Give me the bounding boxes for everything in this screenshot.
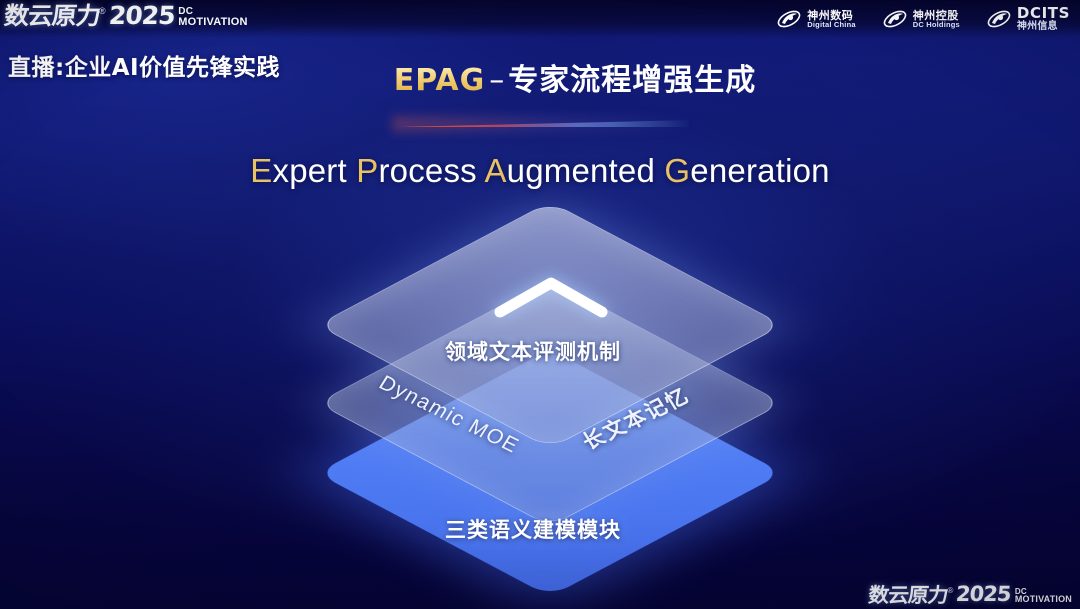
partner-name-en: 神州信息: [1017, 22, 1070, 32]
watermark-dc-line2: MOTIVATION: [1015, 595, 1072, 604]
brand-logo: 数云原力 ® 2025 DC MOTIVATION: [6, 3, 248, 28]
partner-name-cn: DCITS: [1017, 6, 1070, 21]
page-title-cn: 专家流程增强生成: [508, 63, 756, 98]
subtitle-cap-a: A: [484, 152, 506, 189]
swirl-logo-icon: [986, 6, 1012, 32]
swirl-logo-icon: [882, 6, 908, 32]
page-title-accent: EPAG: [394, 63, 486, 98]
subtitle-word-augmented: Augmented: [484, 152, 655, 189]
brand-registered-mark: ®: [99, 7, 106, 16]
watermark-cn: 数云原力: [868, 585, 949, 605]
subtitle-cap-g: G: [664, 152, 690, 189]
brand-logo-year: 2025: [108, 3, 176, 28]
subtitle-cap-p: P: [356, 152, 378, 189]
brand-dc-line2: MOTIVATION: [178, 17, 247, 27]
page-subtitle: Expert Process Augmented Generation: [0, 152, 1080, 190]
watermark-year: 2025: [955, 584, 1011, 605]
partner-logo-group: 神州数码 Digital China 神州控股 DC Holdings: [776, 6, 1070, 32]
partner-name-en: DC Holdings: [913, 21, 960, 29]
partner-label: 神州数码 Digital China: [807, 10, 855, 29]
swirl-logo-icon: [776, 6, 802, 32]
subtitle-word-process: Process: [356, 152, 477, 189]
watermark-dc: DC MOTIVATION: [1015, 588, 1072, 604]
watermark-registered-mark: ®: [947, 587, 953, 595]
partner-logo-dc-holdings: 神州控股 DC Holdings: [882, 6, 960, 32]
subtitle-rest-expert: xpert: [273, 152, 347, 189]
watermark-logo: 数云原力 ® 2025 DC MOTIVATION: [870, 584, 1072, 605]
subtitle-rest-process: rocess: [378, 152, 476, 189]
page-title: EPAG–专家流程增强生成: [0, 55, 1080, 99]
brand-logo-dc: DC MOTIVATION: [178, 7, 247, 27]
partner-name-en: Digital China: [807, 21, 855, 29]
subtitle-cap-e: E: [250, 152, 272, 189]
partner-logo-digital-china: 神州数码 Digital China: [776, 6, 855, 32]
layered-stack-diagram: 领域文本评测机制 Dynamic MOE 长文本记忆 三类语义建模模块: [270, 218, 830, 578]
subtitle-rest-augmented: ugmented: [507, 152, 655, 189]
subtitle-word-generation: Generation: [664, 152, 829, 189]
partner-label: DCITS 神州信息: [1017, 6, 1070, 31]
brand-logo-cn: 数云原力: [3, 4, 101, 28]
slide-canvas: 数云原力 ® 2025 DC MOTIVATION 直播:企业AI价值先锋实践 …: [0, 0, 1080, 609]
partner-logo-dcits: DCITS 神州信息: [986, 6, 1070, 32]
partner-label: 神州控股 DC Holdings: [913, 10, 960, 29]
gradient-divider: [392, 120, 692, 130]
subtitle-rest-generation: eneration: [690, 152, 829, 189]
page-title-dash: –: [489, 63, 504, 98]
subtitle-word-expert: Expert: [250, 152, 347, 189]
